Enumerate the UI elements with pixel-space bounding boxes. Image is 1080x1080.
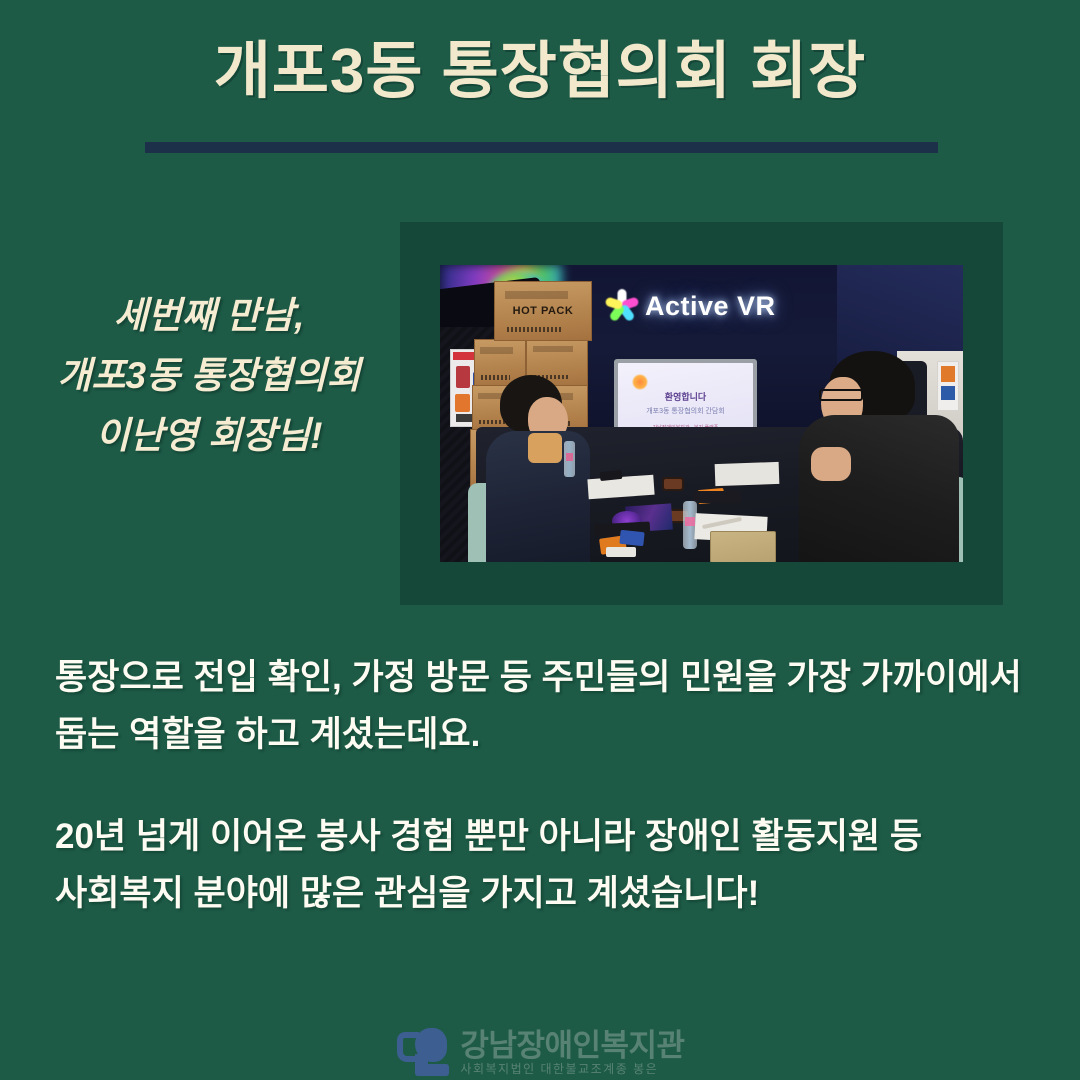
water-bottle: [564, 441, 575, 477]
screen-welcome-line: 환영합니다: [618, 390, 753, 403]
body-p2-line-1: 20년 넘게 이어온 봉사 경험 뿐만 아니라 장애인 활동지원 등: [55, 809, 1045, 866]
title-underline-rule: [145, 142, 938, 153]
organization-name: 강남장애인복지관: [460, 1030, 684, 1061]
active-vr-sign-text: Active VR: [645, 291, 776, 322]
body-p1-line-1: 통장으로 전입 확인, 가정 방문 등 주민들의 민원을 가장 가까이에서: [55, 650, 1045, 707]
person-interviewee: [484, 375, 592, 562]
eyeglasses-icon: [819, 389, 863, 401]
caption-line-3: 이난영 회장님!: [18, 406, 400, 466]
asterisk-flower-icon: [608, 292, 636, 320]
info-card: 개포3동 통장협의회 회장 세번째 만남, 개포3동 통장협의회 이난영 회장님…: [0, 0, 1080, 1080]
screen-decoration-icon: [632, 374, 648, 390]
organization-logo: 강남장애인복지관 사회복지법인 대한불교조계종 봉은: [0, 1028, 1080, 1076]
body-p1-line-2: 돕는 역할을 하고 계셨는데요.: [55, 707, 1045, 764]
table-notebook: [710, 531, 776, 562]
photo-frame: HOT PACK Active VR 환영합니다: [400, 222, 1003, 605]
caption-line-2: 개포3동 통장협의회: [18, 346, 400, 406]
table-snack: [600, 531, 656, 557]
body-paragraph-2: 20년 넘게 이어온 봉사 경험 뿐만 아니라 장애인 활동지원 등 사회복지 …: [55, 809, 1045, 922]
organization-subtitle: 사회복지법인 대한불교조계종 봉은: [460, 1063, 684, 1075]
page-title: 개포3동 통장협의회 회장: [0, 36, 1080, 107]
body-p2-line-2: 사회복지 분야에 많은 관심을 가지고 계셨습니다!: [55, 866, 1045, 923]
gangnam-logo-mark-icon: [395, 1028, 451, 1076]
table-paper: [715, 462, 780, 486]
person-interviewer: [799, 351, 959, 562]
active-vr-sign: Active VR: [608, 287, 776, 325]
intro-caption: 세번째 만남, 개포3동 통장협의회 이난영 회장님!: [18, 286, 400, 466]
organization-logo-text: 강남장애인복지관 사회복지법인 대한불교조계종 봉은: [460, 1030, 684, 1075]
table-phone: [693, 491, 741, 503]
body-copy: 통장으로 전입 확인, 가정 방문 등 주민들의 민원을 가장 가까이에서 돕는…: [55, 650, 1045, 923]
body-paragraph-1: 통장으로 전입 확인, 가정 방문 등 주민들의 민원을 가장 가까이에서 돕는…: [55, 650, 1045, 763]
hot-pack-box-label: HOT PACK: [495, 305, 591, 317]
caption-line-1: 세번째 만남,: [18, 286, 400, 346]
screen-subtitle-line: 개포3동 통장협의회 간담회: [618, 406, 753, 416]
table-cup: [662, 477, 684, 491]
hot-pack-box: HOT PACK: [494, 281, 592, 341]
interview-photo: HOT PACK Active VR 환영합니다: [440, 265, 963, 562]
title-block: 개포3동 통장협의회 회장: [0, 36, 1080, 107]
